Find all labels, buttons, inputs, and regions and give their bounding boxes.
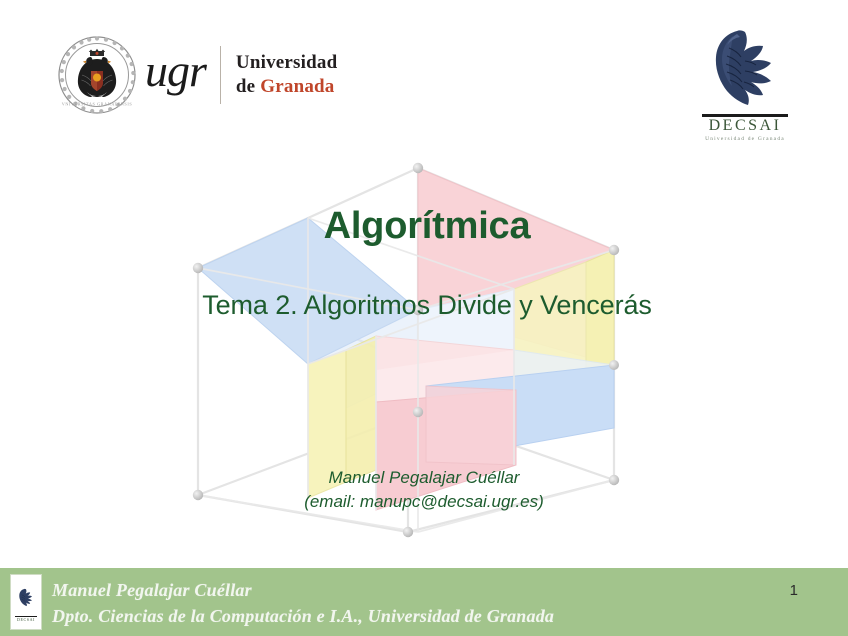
author-email: (email: manupc@decsai.ugr.es) [0, 490, 848, 514]
ugr-granada-accent: Granada [260, 76, 334, 97]
ugr-logo: VNIVERSITAS GRANATENSIS ugr Universidad … [57, 33, 357, 117]
footer-text: Manuel Pegalajar Cuéllar Dpto. Ciencias … [52, 578, 554, 630]
title-block: Algorítmica Tema 2. Algoritmos Divide y … [0, 206, 848, 321]
decsai-subtitle: Universidad de Granada [690, 136, 800, 142]
cube-face-blue-front-right [426, 365, 614, 462]
ugr-seal-icon: VNIVERSITAS GRANATENSIS [57, 35, 137, 115]
decsai-wordmark: DECSAI [690, 118, 800, 135]
cube-face-palepink-center-highlight [376, 350, 514, 470]
ugr-universidad-label: Universidad [236, 51, 337, 75]
footer-line-2: Dpto. Ciencias de la Computación e I.A.,… [52, 604, 554, 630]
ugr-wordmark: ugr [143, 48, 214, 102]
ugr-granada-label: de Granada [236, 75, 337, 99]
footer-logo-wordmark: DECSAI [17, 617, 35, 622]
author-block: Manuel Pegalajar Cuéllar (email: manupc@… [0, 466, 848, 514]
cube-face-blue-right-upper [514, 350, 614, 428]
decsai-bird-icon [693, 28, 797, 112]
page-title: Algorítmica [0, 206, 848, 248]
ugr-de-label: de [236, 76, 260, 97]
footer-decsai-logo: DECSAI [10, 574, 42, 630]
page-number: 1 [790, 582, 798, 599]
cube-face-yellow-front-left-b [346, 336, 376, 482]
slide-canvas: VNIVERSITAS GRANATENSIS ugr Universidad … [0, 0, 848, 636]
decsai-bird-icon-small [14, 582, 38, 614]
ugr-logo-divider [220, 46, 221, 104]
svg-text:VNIVERSITAS GRANATENSIS: VNIVERSITAS GRANATENSIS [62, 102, 133, 107]
footer-bar: DECSAI Manuel Pegalajar Cuéllar Dpto. Ci… [0, 568, 848, 636]
cube-face-pink-front-lower-b [426, 386, 516, 465]
decsai-logo: DECSAI Universidad de Granada [690, 28, 800, 138]
cube-face-palepink-center [376, 336, 514, 470]
author-name: Manuel Pegalajar Cuéllar [0, 466, 848, 490]
cube-face-blue-top-left-b [308, 310, 418, 426]
ugr-name-block: Universidad de Granada [236, 51, 337, 100]
footer-line-1: Manuel Pegalajar Cuéllar [52, 578, 554, 604]
page-subtitle: Tema 2. Algoritmos Divide y Vencerás [0, 248, 848, 321]
